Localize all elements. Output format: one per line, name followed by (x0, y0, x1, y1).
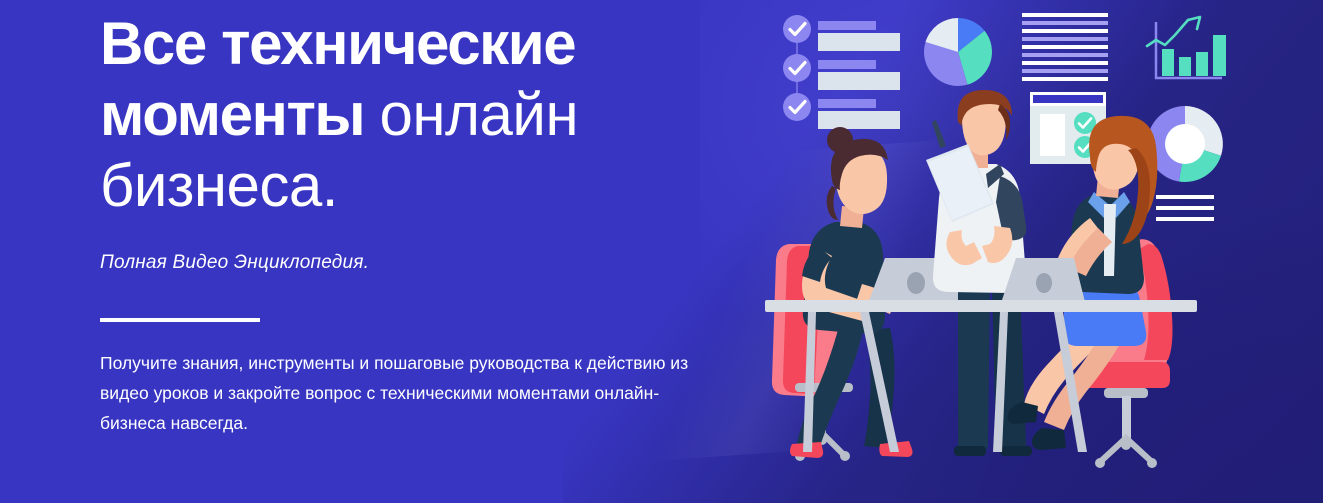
checklist-content-bar (818, 33, 900, 51)
check-circle-icon (783, 15, 811, 43)
checklist-content-bar (818, 111, 900, 129)
checklist-label-bar (818, 60, 876, 69)
hero-banner: Все техническиемоменты онлайнбизнеса. По… (0, 0, 1323, 503)
document-lines-icon (1022, 13, 1108, 81)
pie-chart-icon (924, 18, 992, 86)
donut-chart-icon (1147, 106, 1223, 182)
checklist-widget (783, 15, 900, 129)
donut-caption-lines (1156, 195, 1214, 221)
check-circle-icon (783, 93, 811, 121)
checklist-content-bar (818, 72, 900, 90)
check-circle-icon (783, 54, 811, 82)
checklist-label-bar (818, 21, 876, 30)
office-team-illustration (0, 0, 1323, 503)
bar-chart-icon (1147, 17, 1226, 78)
checklist-label-bar (818, 99, 876, 108)
